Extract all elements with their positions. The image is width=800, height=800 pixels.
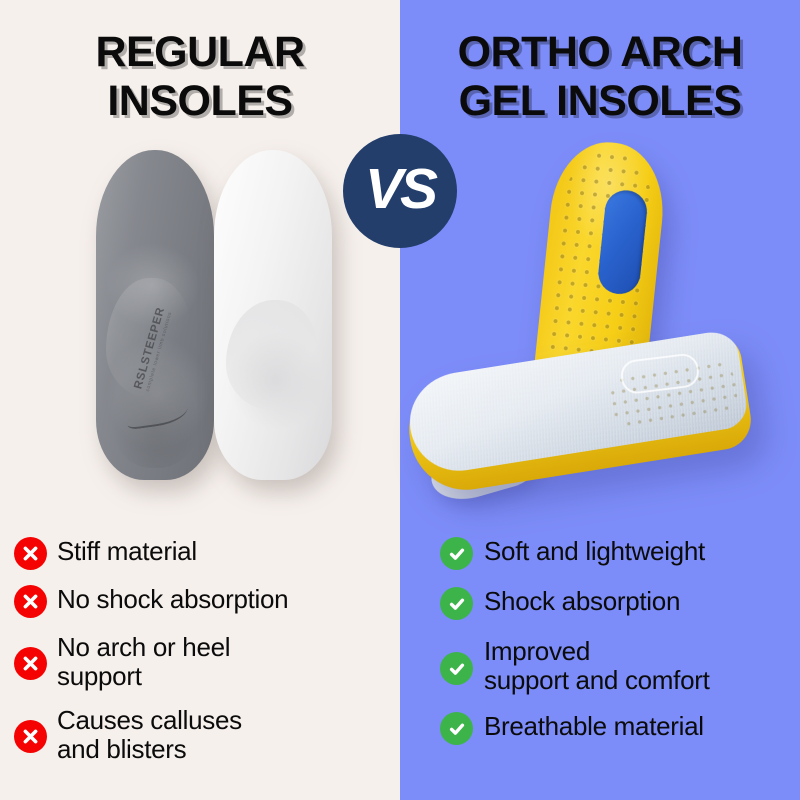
regular-insoles-image: RSLSTEEPER complete lower limb solutions (0, 140, 400, 500)
insole-brand-swoosh-icon (124, 394, 189, 430)
right-heading-line-2: GEL INSOLES (400, 77, 800, 126)
regular-insoles-feature-list: Stiff material No shock absorption No ar… (14, 536, 390, 778)
check-icon (440, 537, 473, 570)
list-item: Causes callusesand blisters (14, 705, 390, 764)
list-item: Shock absorption (440, 586, 788, 620)
grey-insole-graphic: RSLSTEEPER complete lower limb solutions (96, 150, 214, 480)
list-item: Stiff material (14, 536, 390, 570)
left-column-heading: REGULAR INSOLES (0, 28, 400, 125)
insole-brand-name: RSLSTEEPER (132, 306, 167, 391)
right-column-heading: ORTHO ARCH GEL INSOLES (400, 28, 800, 125)
cross-icon (14, 537, 47, 570)
cross-icon (14, 647, 47, 680)
insole-brand-text: RSLSTEEPER complete lower limb solutions (132, 295, 177, 393)
list-item-label: Improvedsupport and comfort (484, 636, 710, 695)
cross-icon (14, 720, 47, 753)
list-item: No shock absorption (14, 584, 390, 618)
lying-gel-insole-graphic (401, 328, 755, 498)
check-icon (440, 712, 473, 745)
list-item-label: No shock absorption (57, 584, 288, 614)
list-item-label: Causes callusesand blisters (57, 705, 242, 764)
list-item: Improvedsupport and comfort (440, 636, 788, 695)
check-icon (440, 587, 473, 620)
list-item-label: Stiff material (57, 536, 197, 566)
gel-insoles-image (400, 140, 800, 500)
left-heading-line-1: REGULAR (0, 28, 400, 77)
check-icon (440, 652, 473, 685)
list-item: Breathable material (440, 711, 788, 745)
list-item: Soft and lightweight (440, 536, 788, 570)
insole-brand-subtext: complete lower limb solutions (145, 298, 177, 392)
list-item-label: No arch or heelsupport (57, 632, 230, 691)
vs-badge: VS (343, 134, 457, 248)
right-heading-line-1: ORTHO ARCH (400, 28, 800, 77)
vs-label: VS (365, 161, 435, 218)
cross-icon (14, 585, 47, 618)
left-heading-line-2: INSOLES (0, 77, 400, 126)
gel-insoles-feature-list: Soft and lightweight Shock absorption Im… (440, 536, 788, 761)
list-item: No arch or heelsupport (14, 632, 390, 691)
list-item-label: Shock absorption (484, 586, 680, 616)
white-insole-graphic (214, 150, 332, 480)
insole-comparison-infographic: REGULAR INSOLES ORTHO ARCH GEL INSOLES V… (0, 0, 800, 800)
list-item-label: Soft and lightweight (484, 536, 705, 566)
list-item-label: Breathable material (484, 711, 704, 741)
